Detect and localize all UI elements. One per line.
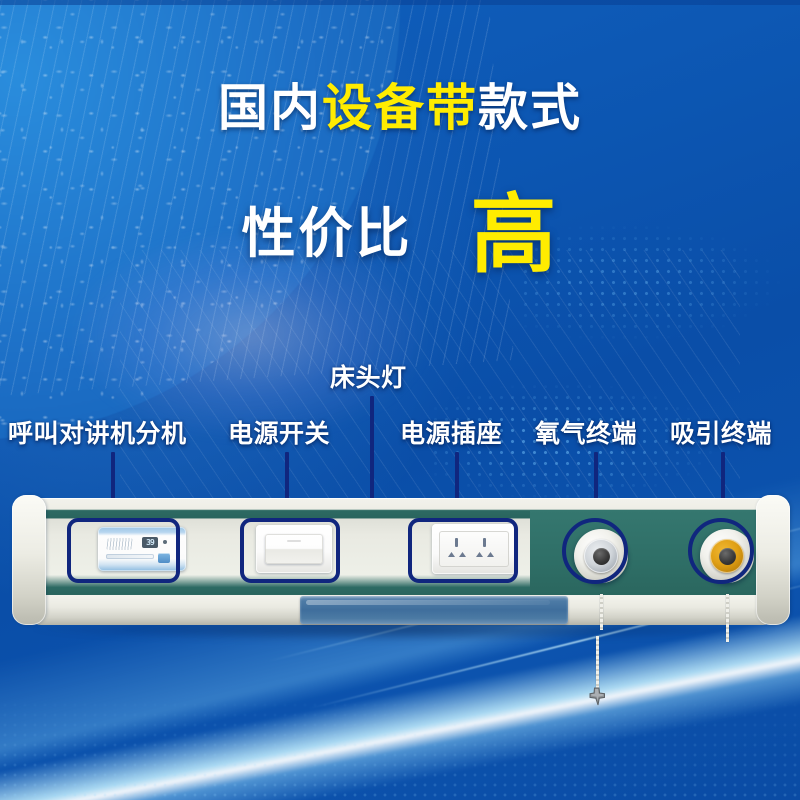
headline-part-1: 国内 bbox=[218, 80, 322, 136]
dot-map-bottom bbox=[0, 700, 800, 800]
headline-subtitle: 性价比 bbox=[242, 204, 413, 264]
promo-banner: 国内设备带款式 性价比高 呼叫对讲机分机 电源开关 床头灯 电源插座 氧气终端 … bbox=[0, 0, 800, 800]
suction-cord bbox=[726, 594, 729, 642]
callout-label-oxygen-outlet: 氧气终端 bbox=[535, 414, 637, 450]
oxygen-cord bbox=[600, 594, 603, 630]
highlight-intercom bbox=[67, 518, 180, 583]
panel-end-cap-right bbox=[756, 495, 790, 625]
callout-label-bed-lamp: 床头灯 bbox=[330, 358, 407, 394]
headline-line-2: 性价比高 bbox=[0, 152, 800, 277]
headline-part-2: 设备带 bbox=[322, 80, 478, 136]
panel-end-cap-left bbox=[12, 495, 46, 625]
highlight-suction bbox=[688, 518, 754, 584]
callout-label-intercom: 呼叫对讲机分机 bbox=[8, 414, 187, 450]
callout-label-power-socket: 电源插座 bbox=[400, 414, 502, 450]
highlight-power-socket bbox=[408, 518, 518, 583]
highlight-power-switch bbox=[240, 518, 340, 583]
bed-lamp-diffuser[interactable] bbox=[300, 596, 568, 624]
top-edge-band bbox=[0, 0, 800, 5]
headline-accent-char: 高 bbox=[471, 187, 559, 283]
callout-label-suction-outlet: 吸引终端 bbox=[670, 414, 772, 450]
cord-clip-icon bbox=[583, 682, 611, 710]
headline-block: 国内设备带款式 性价比高 bbox=[0, 82, 800, 135]
highlight-oxygen bbox=[562, 518, 628, 584]
headline-part-3: 款式 bbox=[478, 80, 582, 136]
headline-line-1: 国内设备带款式 bbox=[0, 82, 800, 135]
callout-label-power-switch: 电源开关 bbox=[228, 414, 330, 450]
